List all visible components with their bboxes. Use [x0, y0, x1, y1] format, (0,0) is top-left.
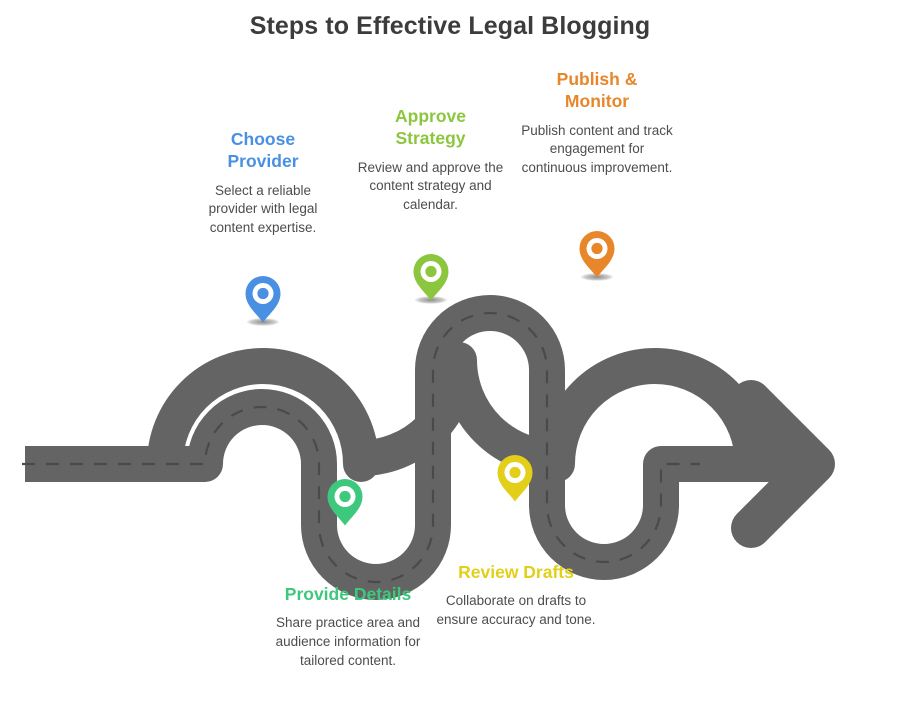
map-pin-icon-approve-strategy[interactable] [414, 254, 449, 304]
step-title: Approve Strategy [353, 105, 508, 150]
infographic-canvas: Steps to Effective Legal Blogging [0, 0, 900, 705]
step-publish-monitor[interactable]: Publish & Monitor Publish content and tr… [521, 68, 673, 178]
map-pin-icon-provide-details[interactable] [328, 479, 363, 526]
step-title-line1: Choose [231, 129, 295, 149]
step-choose-provider[interactable]: Choose Provider Select a reliable provid… [193, 128, 333, 238]
step-description: Publish content and track engagement for… [521, 122, 673, 178]
step-title: Choose Provider [193, 128, 333, 173]
step-description: Collaborate on drafts to ensure accuracy… [435, 592, 597, 629]
step-title: Review Drafts [435, 561, 597, 583]
step-title-line1: Review Drafts [458, 562, 574, 582]
step-title-line2: Monitor [565, 91, 629, 111]
step-description: Select a reliable provider with legal co… [193, 182, 333, 238]
step-description: Review and approve the content strategy … [353, 159, 508, 215]
step-title-line1: Provide Details [285, 584, 411, 604]
step-provide-details[interactable]: Provide Details Share practice area and … [262, 583, 434, 670]
map-pin-icon-review-drafts[interactable] [498, 455, 533, 502]
step-title-line1: Approve [395, 106, 466, 126]
map-pin-icon-choose-provider[interactable] [246, 276, 281, 326]
step-title: Provide Details [262, 583, 434, 605]
step-review-drafts[interactable]: Review Drafts Collaborate on drafts to e… [435, 561, 597, 630]
map-pin-icon-publish-monitor[interactable] [580, 231, 615, 281]
step-title-line1: Publish & [557, 69, 638, 89]
step-title-line2: Provider [228, 151, 299, 171]
step-description: Share practice area and audience informa… [262, 614, 434, 670]
step-approve-strategy[interactable]: Approve Strategy Review and approve the … [353, 105, 508, 215]
step-title-line2: Strategy [395, 128, 465, 148]
step-title: Publish & Monitor [521, 68, 673, 113]
